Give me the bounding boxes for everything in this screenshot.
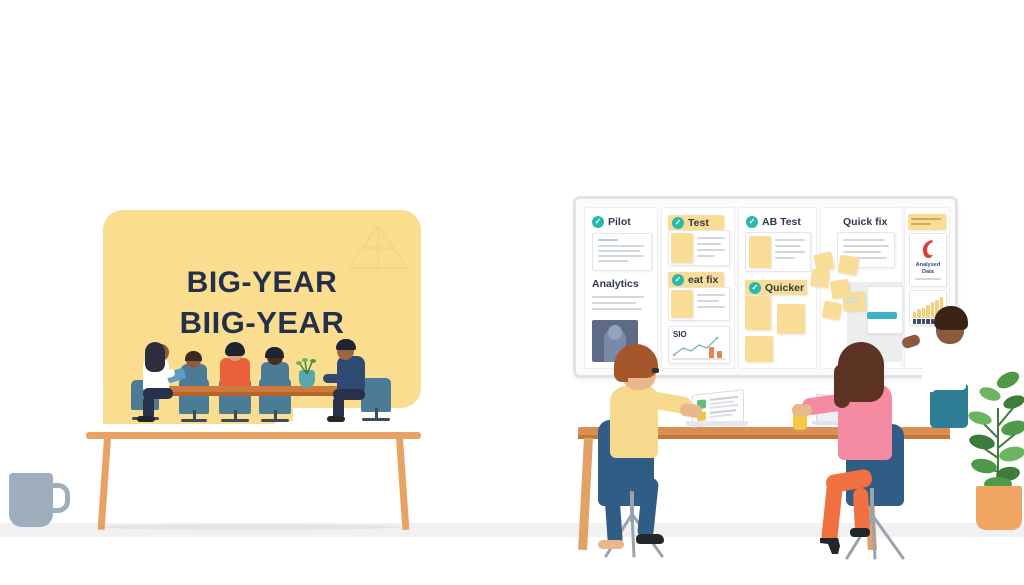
person-seated-left [592,338,722,560]
person-shoe-back [850,528,870,537]
executive-arm [323,374,347,383]
person-hair-side [834,364,850,408]
text-card [592,233,652,271]
poster-body: BIG-YEAR BIIG-YEAR [103,210,421,408]
plant-pot [976,486,1022,530]
person-hair [934,306,968,330]
red-ribbon-icon [918,238,938,260]
poster-title-line-1: BIG-YEAR [103,266,421,300]
report-caption: Analysed Data [914,262,942,276]
column-title: Pilot [608,216,631,228]
column-title: AB Test [762,216,801,228]
mug-body [9,473,53,527]
meeting-chair-base [181,419,207,422]
meeting-chair-base [221,419,249,422]
text-card [592,294,650,316]
big-year-folder-poster: BIG-YEAR BIIG-YEAR [103,186,421,408]
check-badge-icon: ✓ [672,274,684,286]
sticky-note[interactable] [745,336,773,362]
person-hand [792,404,812,416]
column-subtitle: Quicker [765,282,804,294]
meeting-person-hair [185,351,202,361]
column-title: Test [688,217,709,229]
column-subtitle: eat fix [688,274,718,286]
person-skirt [930,384,968,428]
person-hair-side [614,362,628,382]
meeting-person-hair [225,342,245,356]
plant-foliage [968,368,1024,494]
meeting-chair-base [261,419,289,422]
coffee-mug [9,473,65,527]
column-ab-test[interactable]: ✓ AB Test ✓ Quicker [738,207,817,369]
boardroom-meeting-illustration [123,334,401,430]
meeting-person-hair [265,347,284,358]
sticky-note[interactable] [838,254,860,275]
person-heel-shoe [816,534,852,558]
presenter-hair [145,342,165,372]
potted-plant [968,368,1024,530]
desk-leg-left [578,438,593,550]
sticky-note[interactable] [745,296,771,330]
check-badge-icon: ✓ [592,216,604,228]
executive-chair [361,378,391,412]
table-leg-left [98,438,111,530]
report-card: Analysed Data [909,233,947,287]
illustration-canvas: BIG-YEAR BIIG-YEAR [0,0,1024,585]
table-shadow [100,524,400,530]
person-shoe [636,534,664,544]
banner-note[interactable] [908,214,946,230]
person-glasses [652,368,659,373]
sticky-note[interactable] [842,291,865,311]
column-subtitle: Analytics [592,278,639,290]
wooden-side-table [86,432,421,530]
person-shoe-back [598,540,624,549]
meeting-table-edge [155,392,363,396]
person-hand [679,403,703,419]
teal-bar [867,312,897,319]
presenter-shoe [137,416,155,422]
check-badge-icon: ✓ [672,217,684,229]
table-top [86,432,421,439]
sticky-note[interactable] [810,269,830,288]
check-badge-icon: ✓ [749,282,761,294]
meeting-vase-plant [296,356,320,374]
table-leg-right [396,438,409,530]
white-card [867,286,903,334]
text-card [745,232,811,272]
executive-shoe [327,416,345,422]
sticky-note[interactable] [821,300,842,320]
column-title: Quick fix [843,216,887,228]
check-badge-icon: ✓ [746,216,758,228]
text-card [668,230,730,266]
executive-chair-base [362,418,390,421]
sticky-note[interactable] [777,304,805,334]
executive-hair [336,339,356,350]
text-card [668,287,730,321]
